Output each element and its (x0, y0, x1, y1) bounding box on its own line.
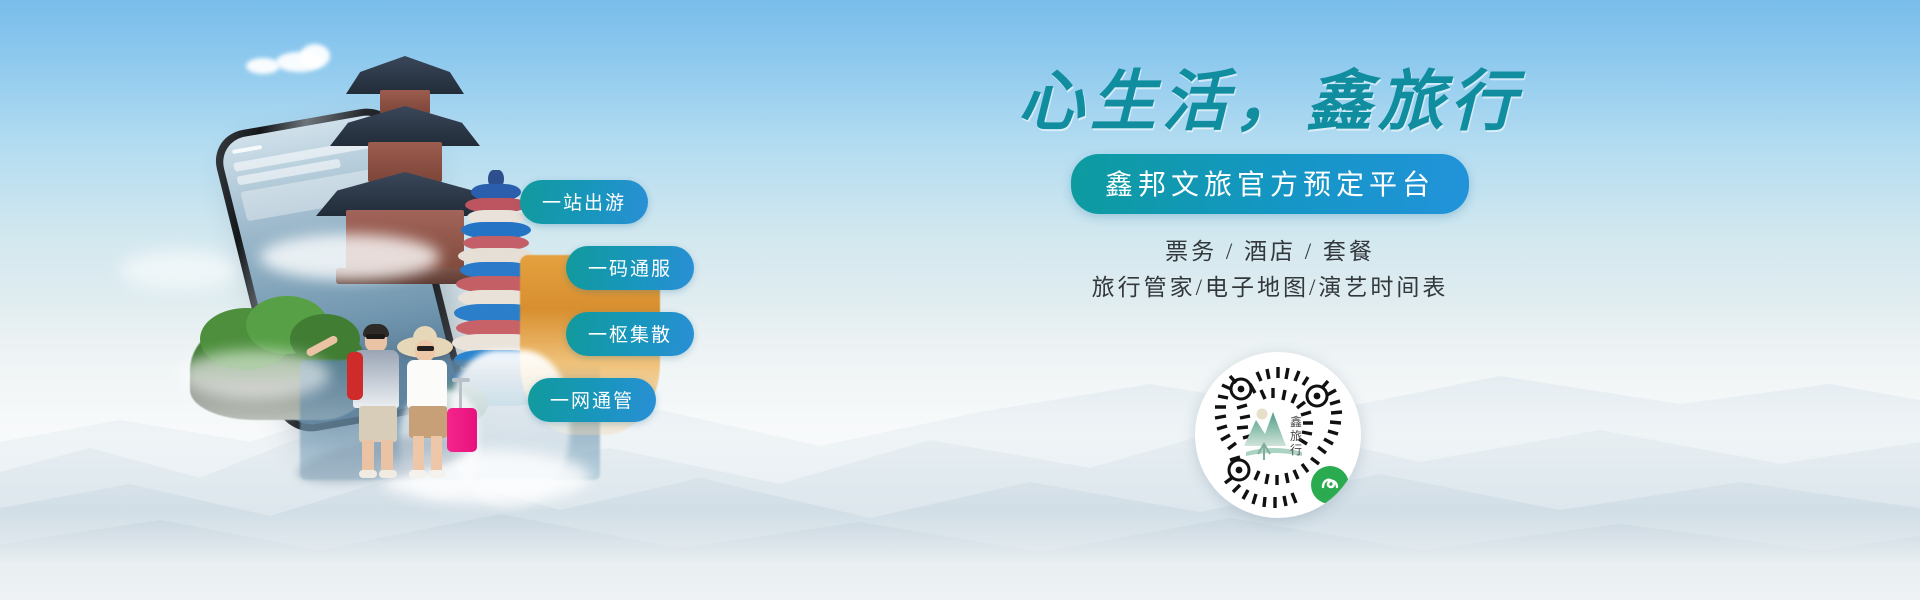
feature-pill-row: 一站出游 (520, 180, 840, 224)
main-headline: 心生活，鑫旅行 (1010, 70, 1530, 136)
feature-pill-yishujisan[interactable]: 一枢集散 (566, 312, 694, 356)
feature-pill-yizhanchuyou[interactable]: 一站出游 (520, 180, 648, 224)
mist (180, 350, 330, 400)
feature-pill-yimatongfu[interactable]: 一码通服 (566, 246, 694, 290)
feature-pill-row: 一码通服 (520, 246, 840, 290)
pink-suitcase (447, 408, 477, 452)
service-line-2: 旅行管家/电子地图/演艺时间表 (1010, 270, 1530, 306)
traveler-couple (335, 320, 500, 490)
promo-banner: 一站出游 一码通服 一枢集散 一网通管 心生活，鑫旅行 鑫邦文旅官方预定平台 票… (0, 0, 1920, 600)
feature-pill-yiwangtongguan[interactable]: 一网通管 (528, 378, 656, 422)
platform-badge: 鑫邦文旅官方预定平台 (1071, 154, 1469, 214)
qr-center-logo: 鑫 旅 行 (1240, 400, 1316, 470)
service-description: 票务 / 酒店 / 套餐 旅行管家/电子地图/演艺时间表 (1010, 234, 1530, 305)
qr-logo-char-3: 行 (1290, 443, 1302, 457)
headline-block: 心生活，鑫旅行 鑫邦文旅官方预定平台 票务 / 酒店 / 套餐 旅行管家/电子地… (1010, 70, 1530, 305)
wechat-miniprogram-qr[interactable]: 鑫 旅 行 (1195, 352, 1361, 518)
bottom-haze (0, 510, 1920, 600)
feature-pill-row: 一网通管 (520, 378, 840, 422)
wechat-miniprogram-icon (1311, 466, 1349, 504)
mist (260, 234, 440, 280)
qr-logo-char-2: 旅 (1290, 429, 1302, 443)
qr-logo-char-1: 鑫 (1290, 414, 1302, 429)
feature-pill-row: 一枢集散 (520, 312, 840, 356)
service-line-1: 票务 / 酒店 / 套餐 (1010, 234, 1530, 270)
feature-pill-list: 一站出游 一码通服 一枢集散 一网通管 (520, 180, 840, 444)
